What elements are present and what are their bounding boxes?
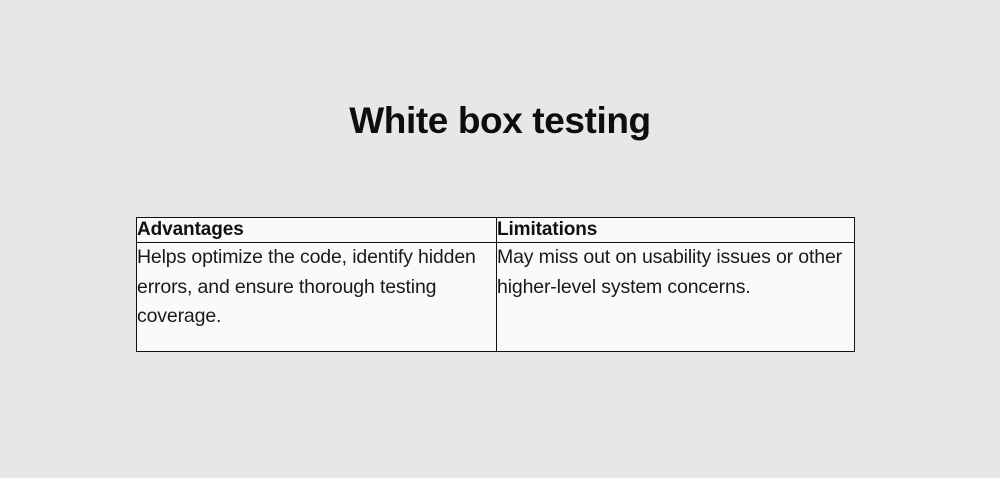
cell-advantages-text: Helps optimize the code, identify hidden… [137, 243, 497, 352]
column-header-advantages: Advantages [137, 218, 497, 243]
column-header-limitations: Limitations [497, 218, 855, 243]
table-header-row: Advantages Limitations [137, 218, 855, 243]
cell-limitations-text: May miss out on usability issues or othe… [497, 243, 855, 352]
comparison-table: Advantages Limitations Helps optimize th… [136, 217, 855, 352]
table-row: Helps optimize the code, identify hidden… [137, 243, 855, 352]
page-title: White box testing [0, 98, 1000, 144]
document-page: White box testing Advantages Limitations… [0, 0, 1000, 478]
